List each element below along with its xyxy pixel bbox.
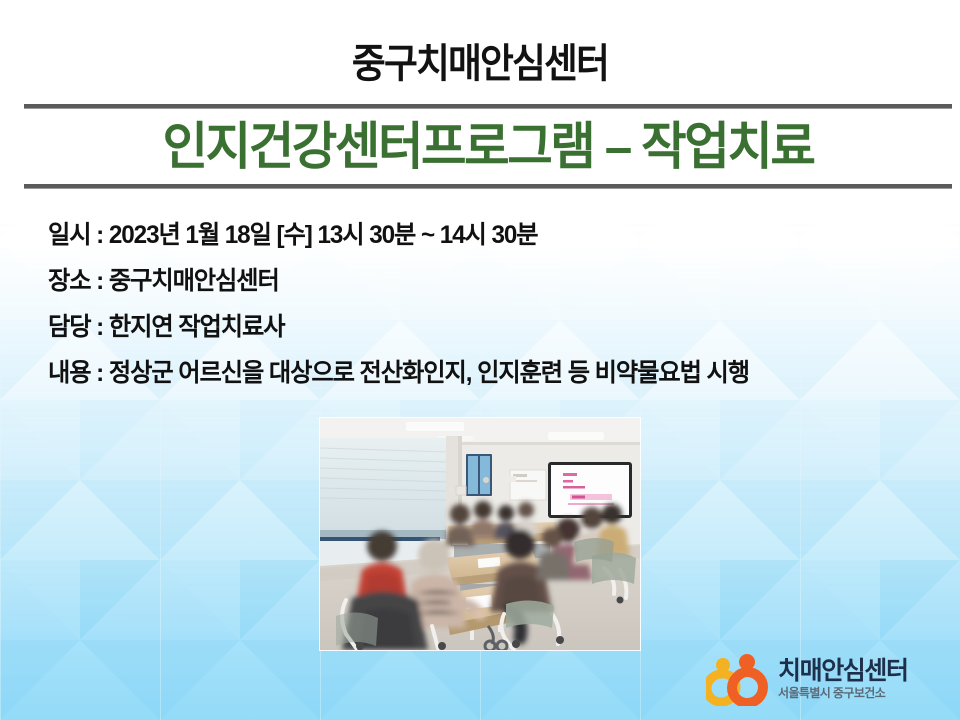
detail-location: 장소 : 중구치매안심센터 bbox=[48, 258, 902, 304]
organization-name: 중구치매안심센터 bbox=[38, 44, 921, 84]
detail-datetime: 일시 : 2023년 1월 18일 [수] 13시 30분 ~ 14시 30분 bbox=[48, 212, 902, 258]
detail-content: 내용 : 정상군 어르신을 대상으로 전산화인지, 인지훈련 등 비약물요법 시… bbox=[48, 350, 902, 396]
detail-staff: 담당 : 한지연 작업치료사 bbox=[48, 304, 902, 350]
page-title: 인지건강센터프로그램 – 작업치료 bbox=[38, 112, 938, 180]
two-people-logo-icon bbox=[706, 654, 768, 706]
presentation-slide: 중구치매안심센터 인지건강센터프로그램 – 작업치료 일시 : 2023년 1월… bbox=[0, 0, 960, 720]
activity-photo bbox=[320, 418, 640, 650]
title-divider-bottom bbox=[24, 184, 952, 188]
logo-title: 치매안심센터 bbox=[778, 658, 908, 684]
logo-text-block: 치매안심센터 서울특별시 중구보건소 bbox=[778, 658, 908, 702]
title-divider-top bbox=[24, 104, 952, 108]
logo-subtitle: 서울특별시 중구보건소 bbox=[778, 686, 908, 702]
event-details-list: 일시 : 2023년 1월 18일 [수] 13시 30분 ~ 14시 30분 … bbox=[48, 212, 928, 396]
center-logo: 치매안심센터 서울특별시 중구보건소 bbox=[706, 648, 952, 712]
